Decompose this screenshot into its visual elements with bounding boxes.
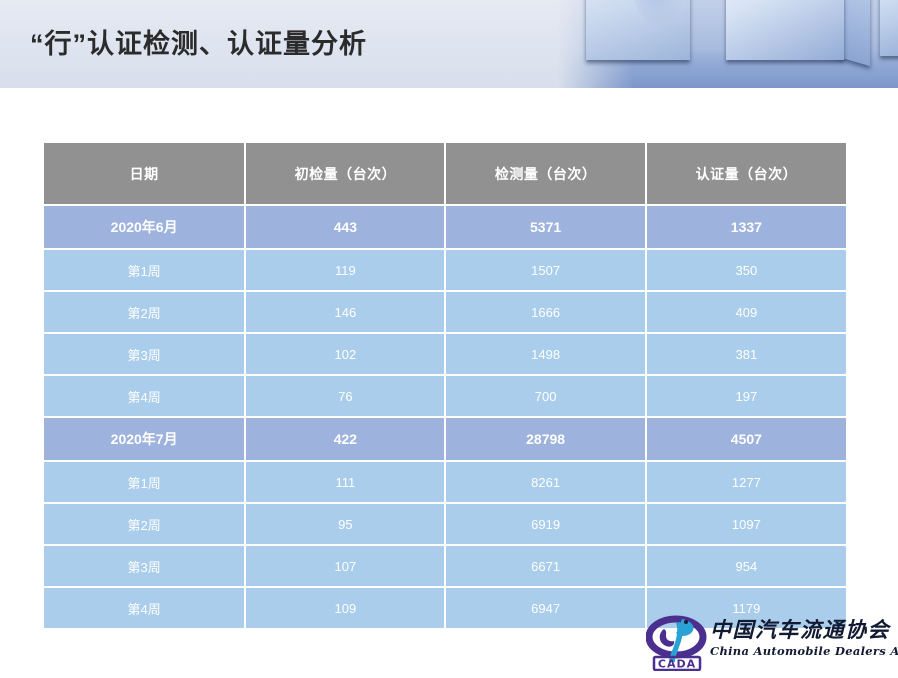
certification-table-container: 日期 初检量（台次） 检测量（台次） 认证量（台次） 2020年6月443537… — [44, 143, 846, 628]
cell-first-check: 95 — [245, 503, 445, 545]
cell-certification: 4507 — [646, 417, 846, 461]
certification-data-table: 日期 初检量（台次） 检测量（台次） 认证量（台次） 2020年6月443537… — [44, 143, 846, 628]
banner-decoration-cubes — [558, 0, 898, 88]
table-row-week: 第1周11182611277 — [44, 461, 846, 503]
cell-date: 第2周 — [44, 291, 245, 333]
cell-first-check: 102 — [245, 333, 445, 375]
cell-date: 2020年7月 — [44, 417, 245, 461]
cell-inspection: 1498 — [445, 333, 645, 375]
cell-date: 第3周 — [44, 333, 245, 375]
cell-inspection: 700 — [445, 375, 645, 417]
page-title: “行”认证检测、认证量分析 — [30, 22, 367, 61]
cell-first-check: 76 — [245, 375, 445, 417]
svg-text:CADA: CADA — [658, 658, 696, 671]
table-row-week: 第2周9569191097 — [44, 503, 846, 545]
cell-first-check: 107 — [245, 545, 445, 587]
organization-logo: CADA 中国汽车流通协会 China Automobile Dealers A… — [646, 611, 894, 673]
table-row-week: 第2周1461666409 — [44, 291, 846, 333]
cell-first-check: 146 — [245, 291, 445, 333]
banner-cube-map-texture — [632, 0, 688, 28]
table-row-month-summary: 2020年7月422287984507 — [44, 417, 846, 461]
table-row-week: 第3周1021498381 — [44, 333, 846, 375]
cell-certification: 197 — [646, 375, 846, 417]
cell-inspection: 5371 — [445, 205, 645, 249]
cell-date: 第1周 — [44, 461, 245, 503]
cell-date: 2020年6月 — [44, 205, 245, 249]
cell-certification: 1337 — [646, 205, 846, 249]
cell-inspection: 6919 — [445, 503, 645, 545]
column-header-date: 日期 — [44, 143, 245, 205]
banner-cube-2 — [726, 0, 844, 60]
header-banner: “行”认证检测、认证量分析 — [0, 0, 898, 88]
column-header-first-check: 初检量（台次） — [245, 143, 445, 205]
banner-cube-3 — [880, 0, 898, 56]
logo-name-cn: 中国汽车流通协会 — [710, 617, 894, 643]
table-header-row: 日期 初检量（台次） 检测量（台次） 认证量（台次） — [44, 143, 846, 205]
cell-certification: 954 — [646, 545, 846, 587]
logo-wordmark: 中国汽车流通协会 China Automobile Dealers Associ… — [710, 617, 894, 658]
cell-inspection: 28798 — [445, 417, 645, 461]
table-row-week: 第4周76700197 — [44, 375, 846, 417]
cell-certification: 381 — [646, 333, 846, 375]
table-row-week: 第3周1076671954 — [44, 545, 846, 587]
cell-date: 第2周 — [44, 503, 245, 545]
cell-inspection: 1507 — [445, 249, 645, 291]
banner-cube-1 — [586, 0, 690, 60]
cell-first-check: 119 — [245, 249, 445, 291]
cell-inspection: 6947 — [445, 587, 645, 628]
table-header: 日期 初检量（台次） 检测量（台次） 认证量（台次） — [44, 143, 846, 205]
cell-inspection: 1666 — [445, 291, 645, 333]
cell-first-check: 422 — [245, 417, 445, 461]
cell-certification: 409 — [646, 291, 846, 333]
cell-certification: 1277 — [646, 461, 846, 503]
cell-certification: 350 — [646, 249, 846, 291]
cell-certification: 1097 — [646, 503, 846, 545]
cell-first-check: 109 — [245, 587, 445, 628]
cell-first-check: 111 — [245, 461, 445, 503]
column-header-inspection: 检测量（台次） — [445, 143, 645, 205]
cell-first-check: 443 — [245, 205, 445, 249]
table-body: 2020年6月44353711337第1周1191507350第2周146166… — [44, 205, 846, 628]
logo-name-en: China Automobile Dealers Association — [710, 644, 894, 658]
table-row-week: 第1周1191507350 — [44, 249, 846, 291]
cell-date: 第1周 — [44, 249, 245, 291]
cell-date: 第4周 — [44, 375, 245, 417]
cell-inspection: 6671 — [445, 545, 645, 587]
table-row-month-summary: 2020年6月44353711337 — [44, 205, 846, 249]
cada-emblem-icon: CADA — [646, 613, 712, 671]
cell-date: 第3周 — [44, 545, 245, 587]
cell-inspection: 8261 — [445, 461, 645, 503]
cell-date: 第4周 — [44, 587, 245, 628]
column-header-certification: 认证量（台次） — [646, 143, 846, 205]
